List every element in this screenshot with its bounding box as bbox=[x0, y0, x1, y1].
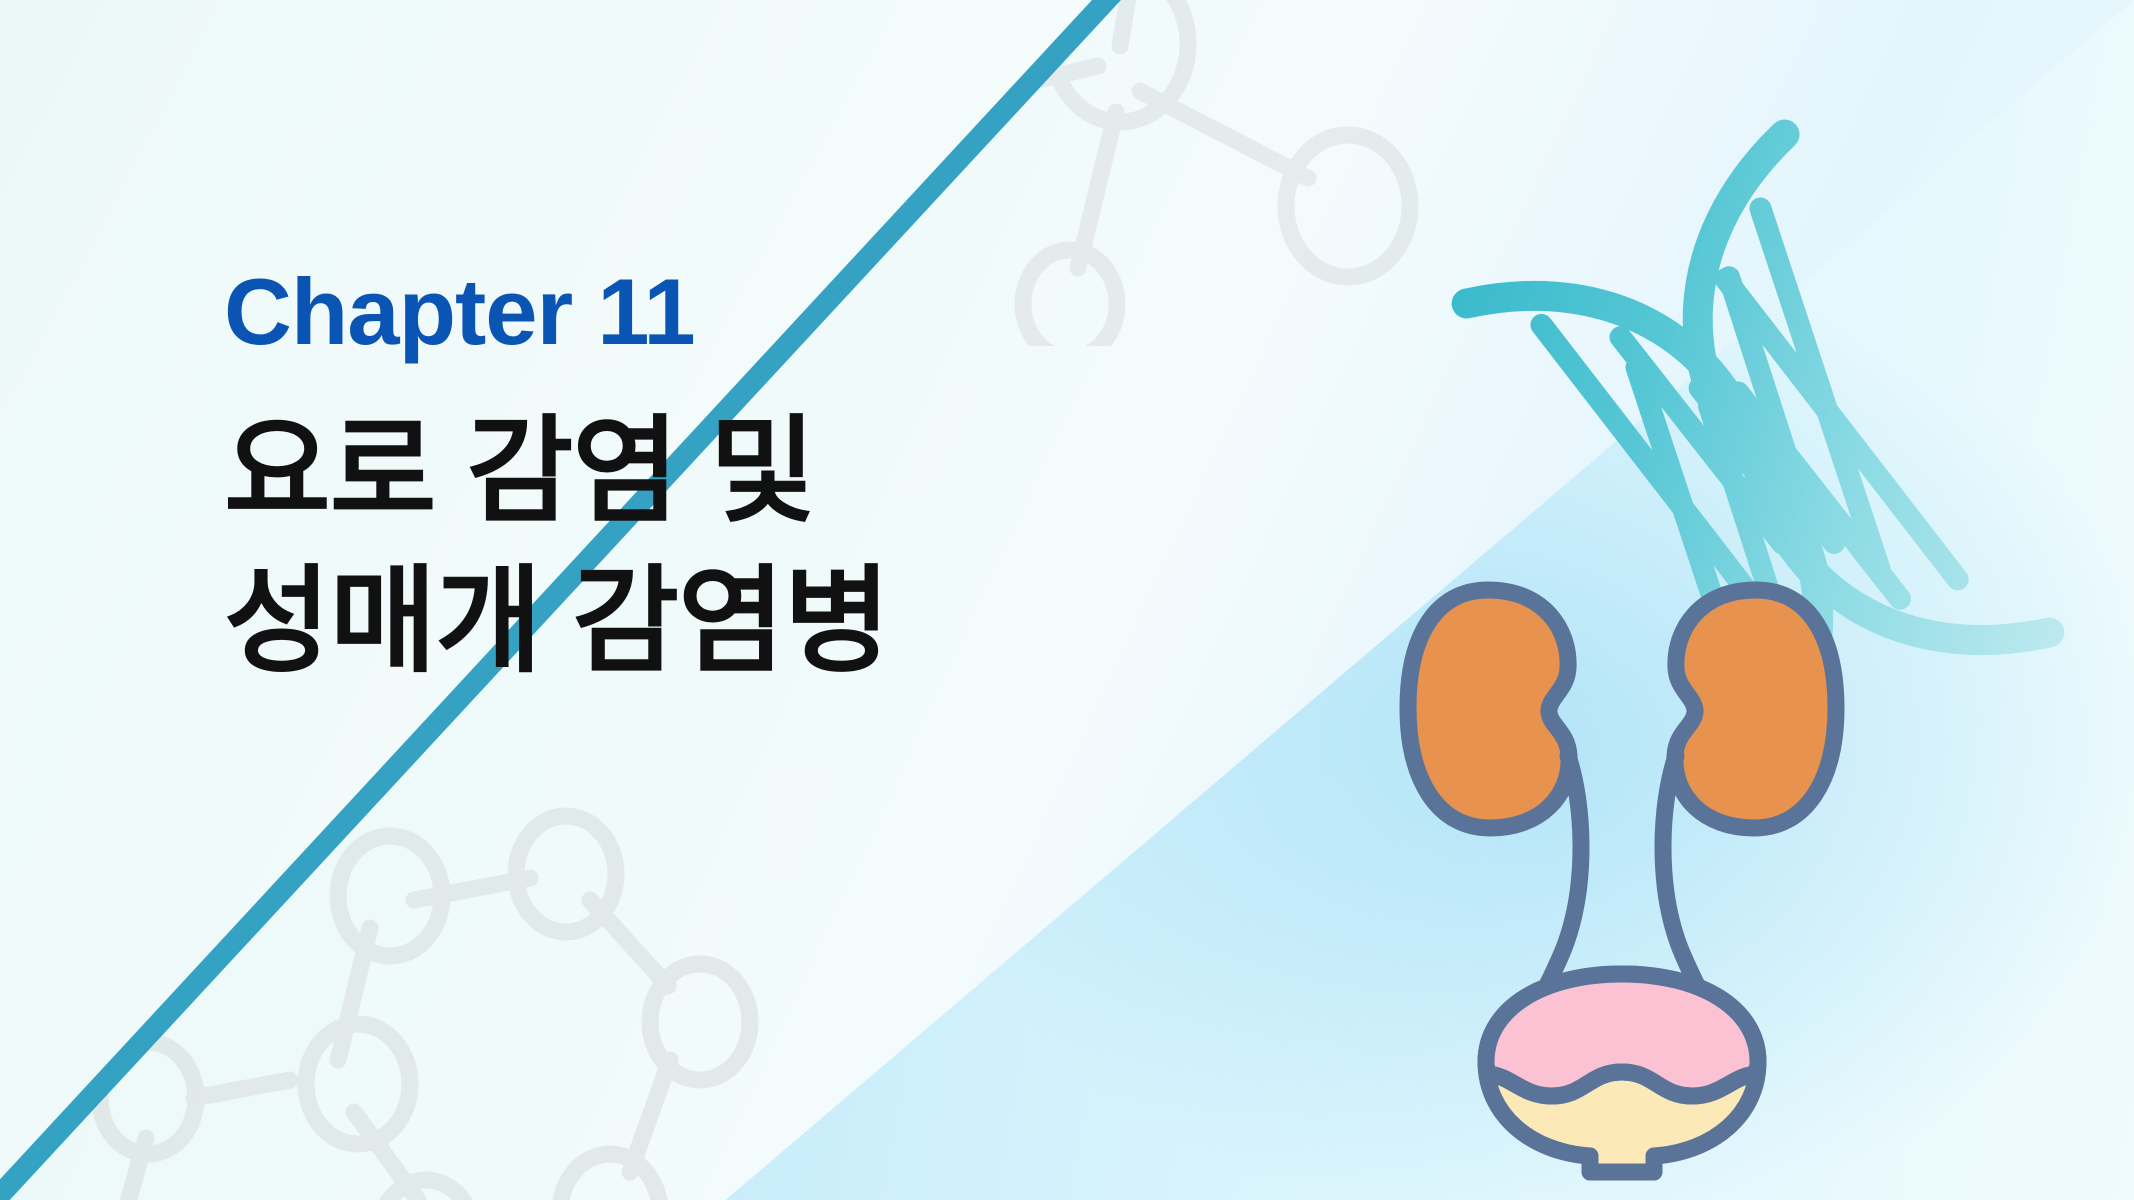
title-line-1: 요로 감염 및 bbox=[224, 396, 1224, 547]
title-slide: Chapter 11 요로 감염 및 성매개 감염병 bbox=[0, 0, 2134, 1200]
chapter-label: Chapter 11 bbox=[224, 262, 1224, 362]
urinary-system-icon bbox=[1392, 556, 1852, 1188]
title-text-block: Chapter 11 요로 감염 및 성매개 감염병 bbox=[224, 262, 1224, 697]
kidney-icon-right bbox=[1675, 590, 1836, 828]
kidney-icon-left bbox=[1408, 590, 1569, 828]
title-line-2: 성매개 감염병 bbox=[224, 546, 1224, 697]
urethra-icon bbox=[1590, 1156, 1654, 1172]
